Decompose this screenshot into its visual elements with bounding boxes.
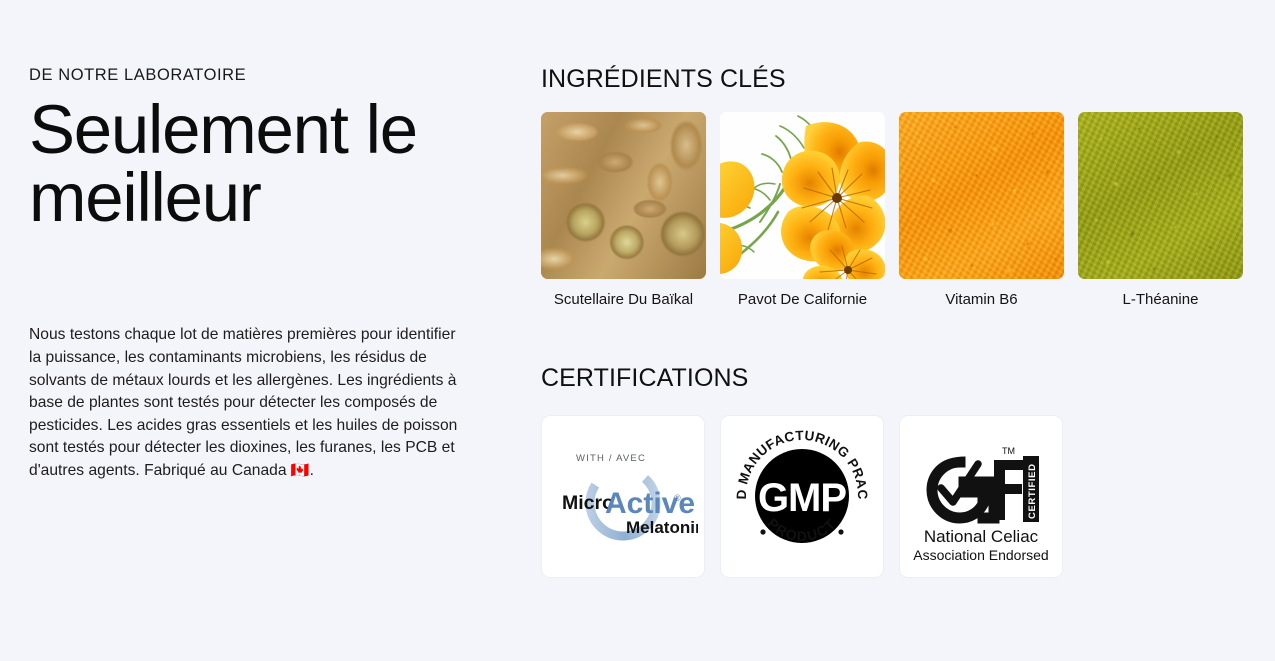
root-slices-texture [541, 112, 706, 279]
orange-powder-texture [899, 112, 1064, 279]
certification-badge-gfi-national-celiac[interactable]: TM CERTIFIED National Celiac Association… [899, 415, 1063, 578]
lab-quality-section: DE NOTRE LABORATOIRE Seulement le meille… [0, 0, 1275, 661]
section-eyebrow: DE NOTRE LABORATOIRE [29, 66, 541, 86]
lab-testing-description-text: Nous testons chaque lot de matières prem… [29, 326, 457, 479]
ingredient-image-dried-baikal-skullcap-root-slices [541, 112, 706, 279]
ingredient-card[interactable]: Pavot De Californie [720, 112, 885, 310]
certifications-grid: WITH / AVEC Micro Active ® Melatonin [541, 415, 1275, 578]
gfi-line-2: Association Endorsed [913, 547, 1048, 563]
ingredients-heading: INGRÉDIENTS CLÉS [541, 66, 1275, 94]
ingredient-image-orange-vitamin-b6-powder [899, 112, 1064, 279]
certifications-heading: CERTIFICATIONS [541, 365, 1275, 393]
ingredient-label: L-Théanine [1078, 290, 1243, 310]
ingredient-image-green-l-theanine-powder [1078, 112, 1243, 279]
microactive-subtitle: Melatonin [626, 518, 698, 537]
left-column: DE NOTRE LABORATOIRE Seulement le meille… [0, 0, 541, 661]
certifications-section: CERTIFICATIONS WITH / AVEC [541, 365, 1275, 578]
gmp-dot-left [760, 530, 765, 535]
gmp-dot-right [838, 530, 843, 535]
lab-testing-description: Nous testons chaque lot de matières prem… [29, 324, 466, 482]
microactive-brand-accent: Active [605, 487, 695, 520]
ingredient-card[interactable]: Vitamin B6 [899, 112, 1064, 310]
right-column: INGRÉDIENTS CLÉS Scutellaire Du Baïkal [541, 0, 1275, 661]
ingredient-label: Scutellaire Du Baïkal [541, 290, 706, 310]
microactive-top-text: WITH / AVEC [576, 453, 646, 464]
gfi-certified-text: CERTIFIED [1027, 464, 1038, 520]
certification-badge-gmp[interactable]: GOOD MANUFACTURING PRACTICE PRODUCT GMP [720, 415, 884, 578]
microactive-registered-mark: ® [674, 493, 681, 503]
description-period: . [310, 462, 314, 479]
ingredient-label: Pavot De Californie [720, 290, 885, 310]
ingredients-grid: Scutellaire Du Baïkal [541, 112, 1275, 310]
poppy-flower-illustration [720, 112, 885, 279]
ingredient-label: Vitamin B6 [899, 290, 1064, 310]
gmp-center-text: GMP [758, 476, 846, 520]
canada-flag-icon: 🇨🇦 [291, 462, 310, 479]
gfi-line-1: National Celiac [924, 527, 1039, 546]
green-powder-texture [1078, 112, 1243, 279]
ingredient-card[interactable]: L-Théanine [1078, 112, 1243, 310]
certification-badge-microactive-melatonin[interactable]: WITH / AVEC Micro Active ® Melatonin [541, 415, 705, 578]
page-title: Seulement le meilleur [29, 96, 429, 233]
ingredient-image-california-poppy-flowers [720, 112, 885, 279]
ingredient-card[interactable]: Scutellaire Du Baïkal [541, 112, 706, 310]
gfi-trademark: TM [1002, 446, 1015, 456]
